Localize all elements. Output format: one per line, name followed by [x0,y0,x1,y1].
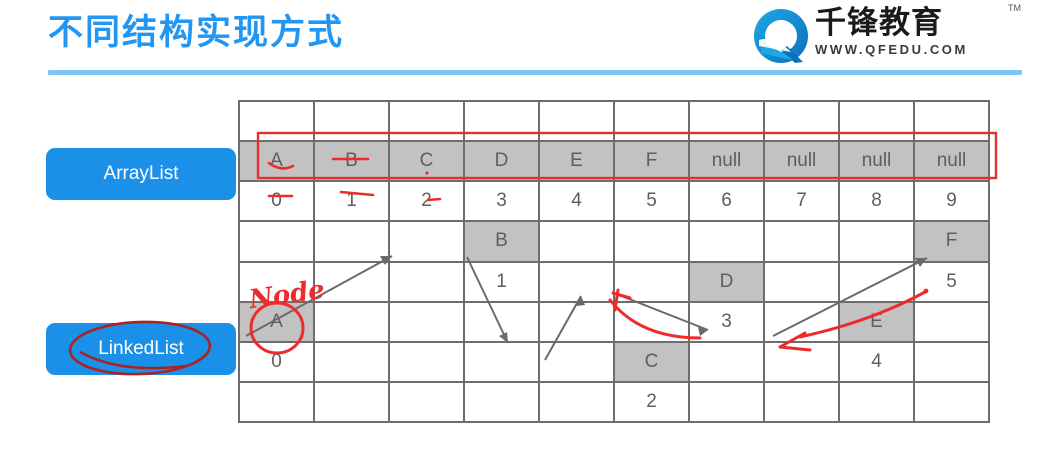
grid-cell-r6-c4 [540,343,615,383]
grid-cell-r3-c8 [840,222,915,262]
page-title: 不同结构实现方式 [48,8,344,58]
title-divider [48,70,1022,75]
grid-cell-r4-c4 [540,263,615,303]
grid-cell-r4-c3: 1 [465,263,540,303]
grid-cell-r6-c2 [390,343,465,383]
grid-cell-r2-c6: 6 [690,182,765,222]
grid-cell-r7-c8 [840,383,915,423]
grid-cell-r2-c1: 1 [315,182,390,222]
grid-cell-r3-c7 [765,222,840,262]
grid-cell-r6-c5: C [615,343,690,383]
grid-cell-r5-c6: 3 [690,303,765,343]
grid-cell-r3-c0 [240,222,315,262]
grid-cell-r4-c7 [765,263,840,303]
grid-cell-r5-c3 [465,303,540,343]
grid-cell-r2-c0: 0 [240,182,315,222]
grid-cell-r3-c1 [315,222,390,262]
qfedu-q-icon [751,6,811,66]
grid-cell-r6-c0: 0 [240,343,315,383]
grid-cell-r1-c7: null [765,142,840,182]
grid-cell-r2-c8: 8 [840,182,915,222]
grid-cell-r5-c2 [390,303,465,343]
grid-cell-r1-c1: B [315,142,390,182]
grid-cell-r1-c6: null [690,142,765,182]
grid-cell-r6-c9 [915,343,990,383]
grid-cell-r7-c2 [390,383,465,423]
grid-cell-r3-c4 [540,222,615,262]
grid-cell-r2-c5: 5 [615,182,690,222]
grid-cell-r1-c0: A [240,142,315,182]
grid-cell-r1-c3: D [465,142,540,182]
grid-cell-r2-c4: 4 [540,182,615,222]
grid-cell-r6-c7 [765,343,840,383]
grid-cell-r1-c8: null [840,142,915,182]
grid-cell-r0-c1 [315,102,390,142]
grid-cell-r4-c9: 5 [915,263,990,303]
grid-cell-r0-c3 [465,102,540,142]
brand-logo: 千锋教育 WWW.QFEDU.COM TM [751,4,1019,68]
grid-cell-r7-c0 [240,383,315,423]
grid-cell-r3-c6 [690,222,765,262]
grid-cell-r0-c9 [915,102,990,142]
grid-cell-r3-c2 [390,222,465,262]
grid-cell-r7-c9 [915,383,990,423]
grid-cell-r6-c3 [465,343,540,383]
logo-url: WWW.QFEDU.COM [815,42,1019,58]
grid-cell-r4-c5 [615,263,690,303]
grid-cell-r7-c1 [315,383,390,423]
grid-cell-r5-c5 [615,303,690,343]
grid-cell-r7-c6 [690,383,765,423]
grid-cell-r4-c6: D [690,263,765,303]
grid-cell-r5-c7 [765,303,840,343]
grid-cell-r2-c7: 7 [765,182,840,222]
grid-cell-r1-c5: F [615,142,690,182]
logo-text-block: 千锋教育 WWW.QFEDU.COM TM [815,4,1019,58]
grid-cell-r5-c4 [540,303,615,343]
grid-cell-r0-c7 [765,102,840,142]
grid-cell-r6-c6 [690,343,765,383]
grid-cell-r5-c9 [915,303,990,343]
grid-cell-r2-c2: 2 [390,182,465,222]
grid-cell-r2-c3: 3 [465,182,540,222]
label-arraylist[interactable]: ArrayList [46,148,236,200]
grid-cell-r3-c9: F [915,222,990,262]
label-linkedlist[interactable]: LinkedList [46,323,236,375]
grid-cell-r0-c8 [840,102,915,142]
grid-cell-r0-c2 [390,102,465,142]
grid-cell-r1-c4: E [540,142,615,182]
grid-cell-r6-c8: 4 [840,343,915,383]
grid-cell-r7-c3 [465,383,540,423]
logo-trademark: TM [1008,3,1021,13]
grid-cell-r2-c9: 9 [915,182,990,222]
grid-cell-r7-c4 [540,383,615,423]
grid-cell-r4-c1 [315,263,390,303]
grid-cell-r1-c2: C [390,142,465,182]
slide-root: 不同结构实现方式 千锋教育 WWW.QFEDU.COM TM ArrayList… [0,0,1057,457]
grid-cell-r4-c2 [390,263,465,303]
grid-cell-r0-c5 [615,102,690,142]
grid-cell-r0-c6 [690,102,765,142]
grid-cell-r1-c9: null [915,142,990,182]
structure-grid: ABCDEFnullnullnullnull0123456789BF1D5A3E… [238,100,990,423]
grid-cell-r3-c3: B [465,222,540,262]
grid-cell-r3-c5 [615,222,690,262]
grid-cell-r7-c5: 2 [615,383,690,423]
grid-cell-r0-c4 [540,102,615,142]
grid-cell-r5-c1 [315,303,390,343]
logo-brand-cn: 千锋教育 [815,4,1019,42]
grid-cell-r6-c1 [315,343,390,383]
grid-cell-r0-c0 [240,102,315,142]
grid-cell-r4-c8 [840,263,915,303]
grid-cell-r7-c7 [765,383,840,423]
grid-cell-r5-c8: E [840,303,915,343]
